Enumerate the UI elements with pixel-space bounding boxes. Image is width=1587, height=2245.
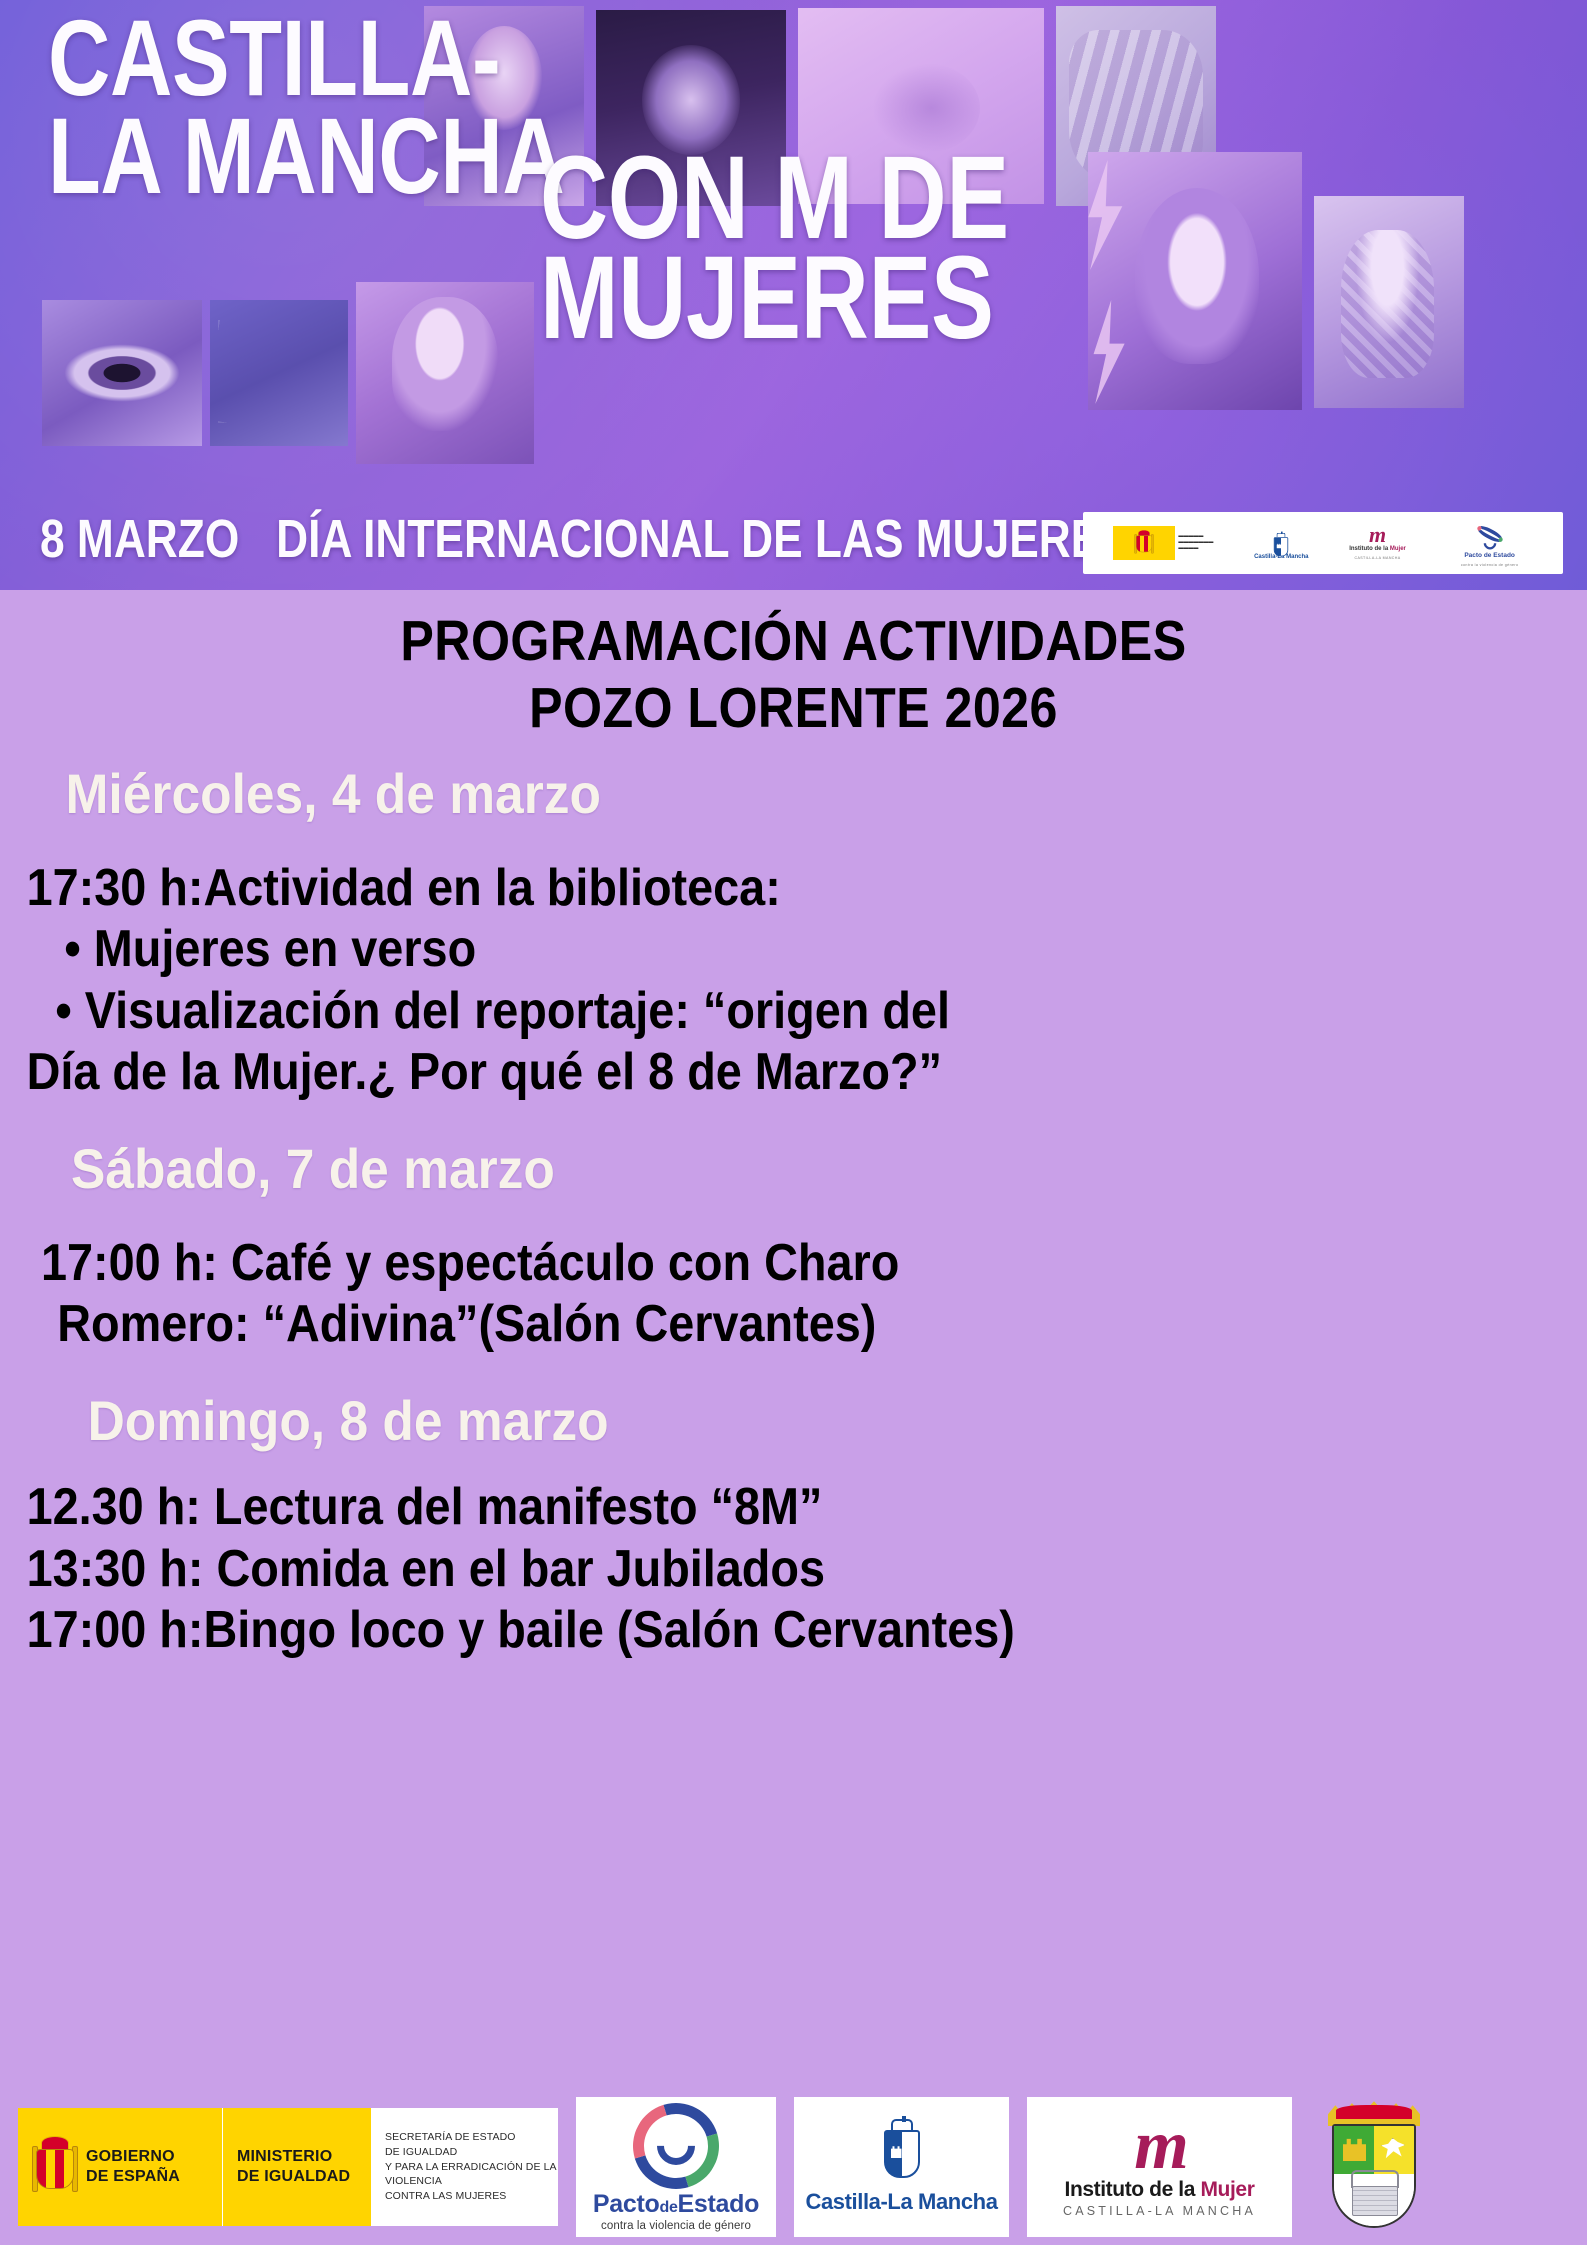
instituto-line2: CASTILLA-LA MANCHA <box>1063 2204 1256 2218</box>
secretaria-segment: SECRETARÍA DE ESTADO DE IGUALDAD Y PARA … <box>371 2108 558 2226</box>
ministerio-line1: MINISTERIO <box>237 2147 350 2167</box>
banner-title-line4: MUJERES <box>540 250 994 347</box>
photo-shouting-woman <box>1088 152 1302 410</box>
day-heading-domingo: Domingo, 8 de marzo <box>14 1390 1448 1452</box>
instituto-monogram-icon: m <box>1369 526 1386 544</box>
pozo-well-icon <box>1352 2186 1398 2216</box>
banner-logo-strip: ▬▬▬▬▬▬▬▬▬▬▬▬▬▬▬▬ Castilla-La Mancha m In… <box>1083 512 1563 574</box>
logo-gobierno-de-espana: GOBIERNO DE ESPAÑA MINISTERIO DE IGUALDA… <box>18 2108 558 2226</box>
event-0-0: 17:30 h:Actividad en la biblioteca: <box>14 858 1417 919</box>
page-title-line1: PROGRAMACIÓN ACTIVIDADES <box>95 608 1492 675</box>
event-2-1: 13:30 h: Comida en el bar Jubilados <box>14 1539 1417 1600</box>
schedule-day-1: Sábado, 7 de marzo 17:00 h: Café y espec… <box>0 1138 1587 1356</box>
event-0-1: • Mujeres en verso <box>14 919 1417 980</box>
photo-teacher <box>356 282 534 464</box>
banner-gobierno-text: ▬▬▬▬▬▬▬▬▬▬▬▬▬▬▬▬ <box>1178 534 1213 551</box>
secretaria-line3: Y PARA LA ERRADICACIÓN DE LA VIOLENCIA <box>385 2160 558 2190</box>
pozo-crown-cap <box>1336 2105 1412 2119</box>
castilla-shield-icon <box>880 2119 924 2181</box>
gobierno-line1: GOBIERNO <box>86 2147 180 2167</box>
page-title-line2: POZO LORENTE 2026 <box>95 675 1492 742</box>
banner-title-line1: CASTILLA- <box>48 14 500 103</box>
event-0-2: • Visualización del reportaje: “origen d… <box>14 981 1417 1042</box>
logo-pozo-lorente-coat-of-arms <box>1310 2096 1438 2238</box>
ministerio-line2: DE IGUALDAD <box>237 2167 350 2187</box>
banner-instituto-label: Instituto de la Mujer <box>1349 546 1406 553</box>
gobierno-segment: GOBIERNO DE ESPAÑA <box>18 2108 223 2226</box>
banner-logo-instituto: m Instituto de la Mujer CASTILLA-LA MANC… <box>1349 526 1406 560</box>
banner-pacto-label: Pacto de Estado <box>1464 552 1515 559</box>
instituto-monogram-icon: m <box>1134 2116 1184 2176</box>
event-1-1: Romero: “Adivina”(Salón Cervantes) <box>14 1294 1417 1355</box>
pacto-title-de: de <box>659 2199 677 2216</box>
logo-pacto-de-estado: PactodeEstado contra la violencia de gén… <box>576 2097 776 2237</box>
banner-instituto-sub: CASTILLA-LA MANCHA <box>1354 556 1400 560</box>
banner-logo-pacto: Pacto de Estado contra la violencia de g… <box>1447 519 1533 566</box>
castilla-shield-icon <box>1272 533 1290 543</box>
banner-logo-castilla: Castilla-La Mancha <box>1254 525 1308 561</box>
secretaria-line4: CONTRA LAS MUJERES <box>385 2189 558 2204</box>
day-heading-miercoles: Miércoles, 4 de marzo <box>14 763 1448 825</box>
castilla-label: Castilla-La Mancha <box>805 2189 997 2215</box>
footer-logo-bar: GOBIERNO DE ESPAÑA MINISTERIO DE IGUALDA… <box>0 2095 1587 2245</box>
pacto-title-main: Pacto <box>593 2190 660 2218</box>
logo-instituto-de-la-mujer: m Instituto de la Mujer CASTILLA-LA MANC… <box>1027 2097 1292 2237</box>
pacto-ring-icon <box>1475 529 1503 539</box>
spain-coat-of-arms-icon <box>32 2136 78 2198</box>
banner-pacto-sub: contra la violencia de género <box>1461 563 1519 567</box>
banner-gobierno-plate <box>1113 526 1175 560</box>
event-2-0: 12.30 h: Lectura del manifesto “8M” <box>14 1477 1417 1538</box>
event-1-0: 17:00 h: Café y espectáculo con Charo <box>14 1233 1417 1294</box>
photo-chalkboard <box>210 300 348 446</box>
event-0-3: Día de la Mujer.¿ Por qué el 8 de Marzo?… <box>14 1042 1417 1103</box>
banner-logo-gobierno: ▬▬▬▬▬▬▬▬▬▬▬▬▬▬▬▬ <box>1113 526 1213 560</box>
instituto-line1-b: Mujer <box>1200 2178 1254 2201</box>
poster-banner: CASTILLA- LA MANCHA CON M DE MUJERES 8 M… <box>0 0 1587 590</box>
instituto-line1-a: Instituto de la <box>1065 2178 1201 2201</box>
instituto-line1: Instituto de la Mujer <box>1065 2178 1255 2202</box>
secretaria-line1: SECRETARÍA DE ESTADO <box>385 2130 558 2145</box>
day-heading-sabado: Sábado, 7 de marzo <box>14 1138 1448 1200</box>
photo-eye <box>42 300 202 446</box>
secretaria-line2: DE IGUALDAD <box>385 2145 558 2160</box>
pacto-title-end: Estado <box>678 2190 760 2218</box>
pacto-ring-icon <box>633 2103 719 2189</box>
banner-title-line2: LA MANCHA <box>48 112 564 201</box>
pozo-shield <box>1332 2124 1416 2228</box>
gobierno-line2: DE ESPAÑA <box>86 2167 180 2187</box>
event-2-2: 17:00 h:Bingo loco y baile (Salón Cervan… <box>14 1600 1417 1661</box>
logo-castilla-la-mancha: Castilla-La Mancha <box>794 2097 1009 2237</box>
pacto-title: PactodeEstado <box>593 2192 759 2217</box>
ministerio-segment: MINISTERIO DE IGUALDAD <box>223 2108 371 2226</box>
program-content: PROGRAMACIÓN ACTIVIDADES POZO LORENTE 20… <box>0 590 1587 1662</box>
pacto-subtitle: contra la violencia de género <box>601 2220 751 2232</box>
photo-runner <box>1314 196 1464 408</box>
page-title: PROGRAMACIÓN ACTIVIDADES POZO LORENTE 20… <box>0 590 1587 743</box>
schedule-day-2: Domingo, 8 de marzo 12.30 h: Lectura del… <box>0 1390 1587 1662</box>
schedule-day-0: Miércoles, 4 de marzo 17:30 h:Actividad … <box>0 763 1587 1104</box>
spain-coat-of-arms-icon <box>1135 530 1154 556</box>
banner-tagline: 8 MARZO DÍA INTERNACIONAL DE LAS MUJERES <box>40 508 1130 570</box>
